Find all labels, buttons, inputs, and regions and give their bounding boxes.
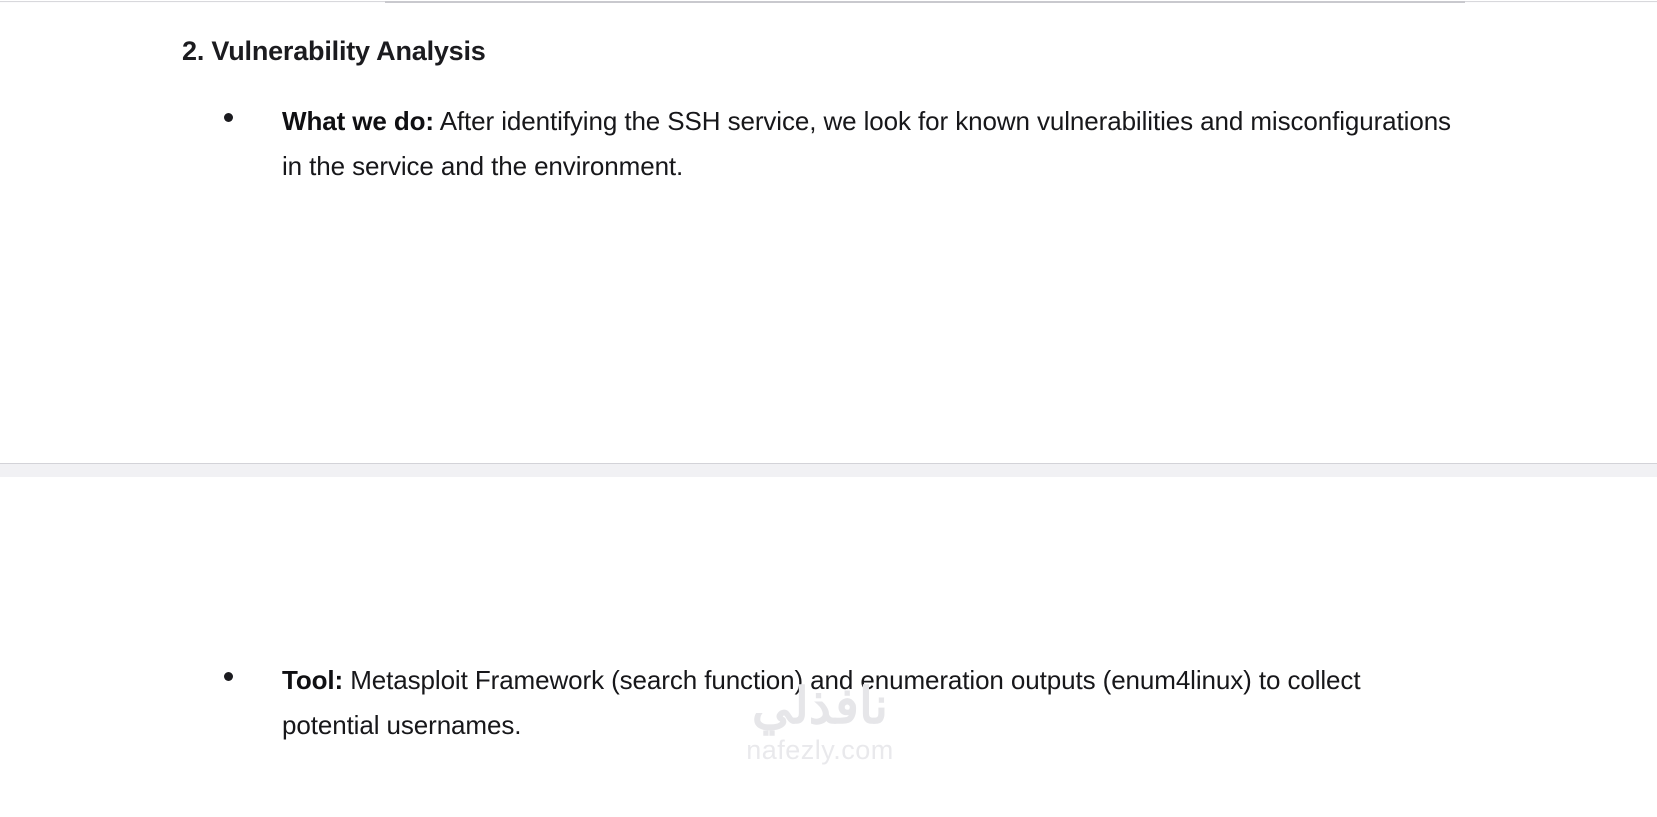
bullet-text: Tool: Metasploit Framework (search funct… bbox=[282, 658, 1464, 748]
section-heading: 2. Vulnerability Analysis bbox=[182, 36, 486, 67]
bullet-lead-label: What we do: bbox=[282, 106, 434, 136]
list-item: What we do: After identifying the SSH se… bbox=[224, 99, 1464, 189]
bullet-text: What we do: After identifying the SSH se… bbox=[282, 99, 1464, 189]
document-page-2: Tool: Metasploit Framework (search funct… bbox=[0, 477, 1657, 817]
bullet-point-icon bbox=[224, 113, 233, 122]
bullet-body-text: Metasploit Framework (search function) a… bbox=[282, 665, 1360, 740]
document-page-1: 2. Vulnerability Analysis What we do: Af… bbox=[0, 3, 1657, 463]
bullet-lead-label: Tool: bbox=[282, 665, 343, 695]
list-item: Tool: Metasploit Framework (search funct… bbox=[224, 658, 1464, 748]
bullet-body-text: After identifying the SSH service, we lo… bbox=[282, 106, 1451, 181]
bullet-point-icon bbox=[224, 672, 233, 681]
document-viewport[interactable]: 2. Vulnerability Analysis What we do: Af… bbox=[0, 0, 1657, 817]
